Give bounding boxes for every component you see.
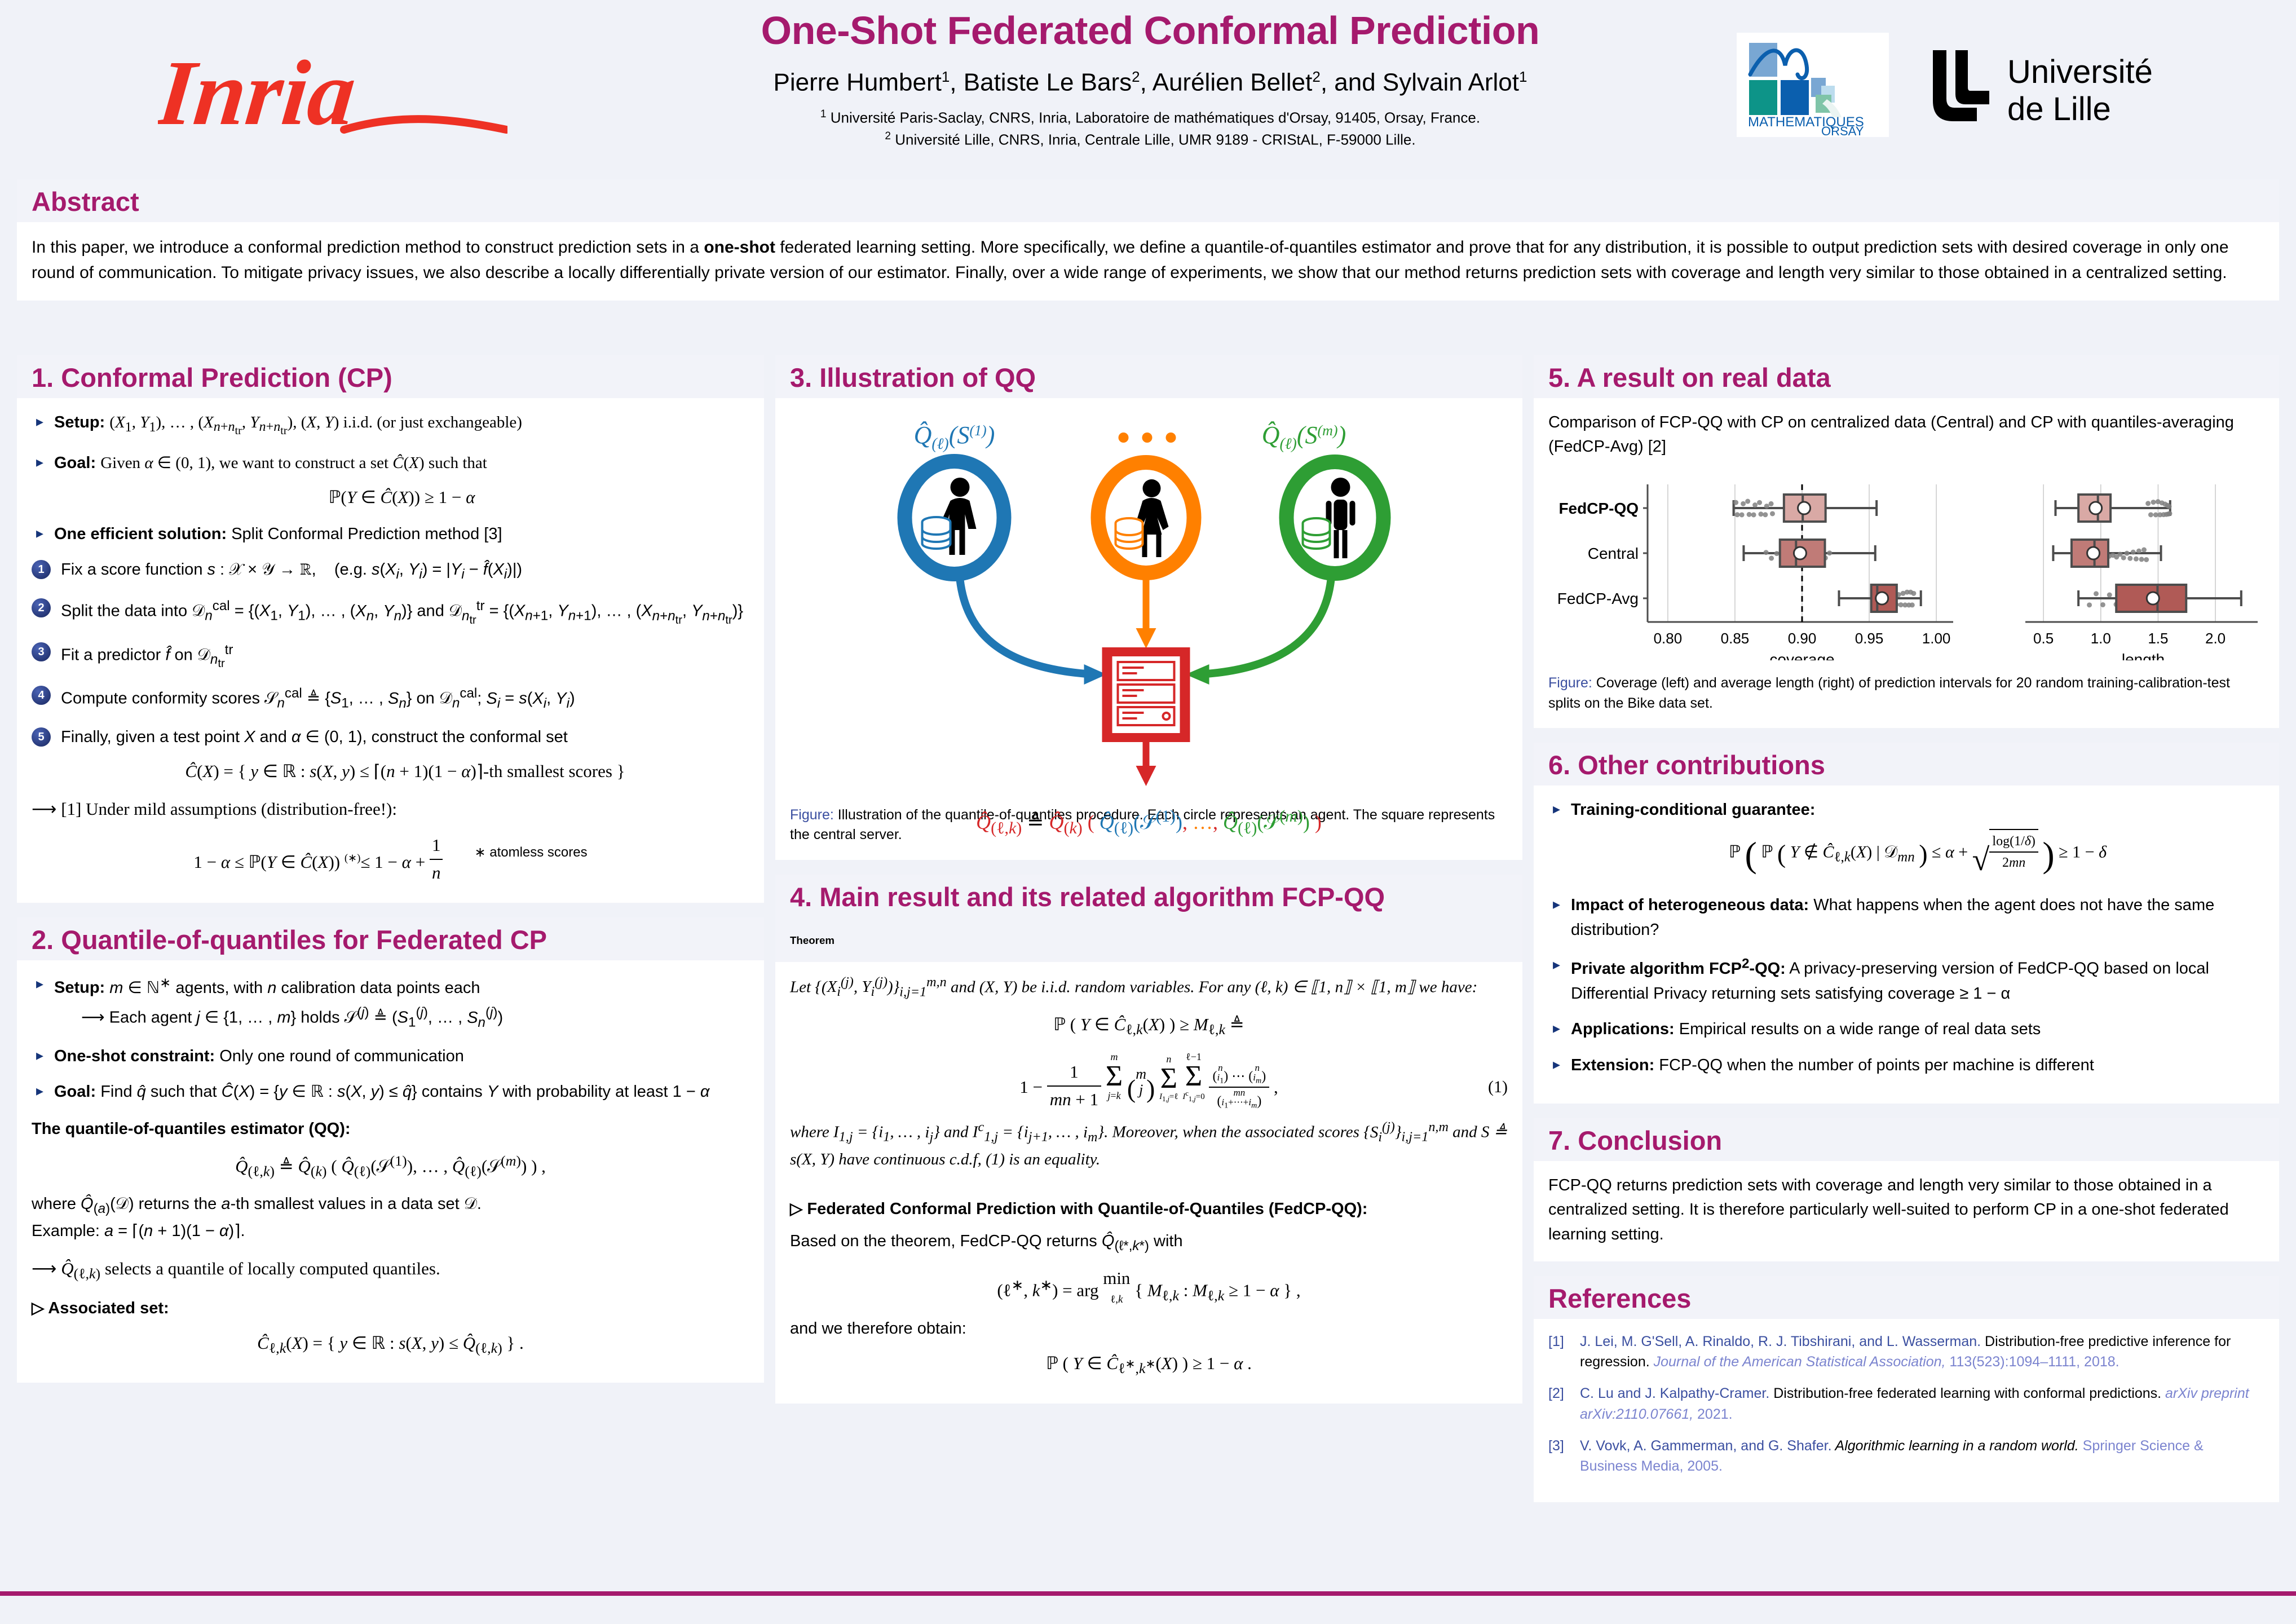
section-6-bullets: Training-conditional guarantee: ℙ ( ℙ ( … [1548,798,2264,1078]
setup-label: Setup: [54,979,105,997]
section-6-header: 6. Other contributions [1534,743,2279,785]
setup-label: Setup: [54,413,105,431]
mathematiques-orsay-logo: MATHEMATIQUES ORSAY [1737,33,1889,137]
list-item: Fix a score function s : 𝒳 × 𝒴 → ℝ, (e.g… [32,558,749,585]
setup-text: m ∈ ℕ∗ agents, with n calibration data p… [109,979,480,997]
theorem-header: Theorem [775,917,1522,961]
assoc-equation: Ĉℓ,k(X) = { y ∈ ℝ : s(X, y) ≤ Q̂(ℓ,k) } … [32,1330,749,1360]
reference-item: [2] C. Lu and J. Kalpathy-Cramer. Distri… [1548,1383,2264,1424]
references-heading: References [1548,1284,2264,1313]
final-equation: ℙ ( Y ∈ Ĉℓ∗,k∗(X) ) ≥ 1 − α . [790,1351,1508,1380]
list-item: Split the data into 𝒟ncal = {(X1, Y1), …… [32,596,749,628]
figure-caption-5: Figure: Coverage (left) and average leng… [1548,673,2264,713]
theorem-body: Let {(Xi(j), Yi(j))}i,j=1m,n and (X, Y) … [775,962,1522,1185]
section-2-heading: 2. Quantile-of-quantiles for Federated C… [32,925,749,955]
svg-text:Q̂(ℓ)(S(1)): Q̂(ℓ)(S(1)) [914,421,995,453]
abstract-bold-1: one-shot [704,238,775,257]
central-server-icon [1102,647,1190,742]
svg-text:FedCP-Avg: FedCP-Avg [1557,590,1639,607]
section-6-card: 6. Other contributions Training-conditio… [1534,743,2279,1104]
mild-assumption-line: ⟶ [1] Under mild assumptions (distributi… [32,796,749,823]
references-header: References [1534,1276,2279,1319]
section-5-header: 5. A result on real data [1534,355,2279,398]
reference-detail: 113(523):1094–1111, 2018. [1945,1354,2119,1370]
section-2-bullets: Setup: m ∈ ℕ∗ agents, with n calibration… [32,973,749,1105]
section-6-heading: 6. Other contributions [1548,751,2264,780]
list-item: One efficient solution: Split Conformal … [32,522,749,547]
setup-text: (X1, Y1), … , (Xn+ntr, Yn+ntr), (X, Y) i… [109,413,522,431]
estimator-heading: The quantile-of-quantiles estimator (QQ)… [32,1117,749,1142]
list-item: Private algorithm FCP2-QQ: A privacy-pre… [1548,954,2264,1006]
contribution-text-4: FCP-QQ when the number of points per mac… [1654,1056,2094,1074]
reference-authors: C. Lu and J. Kalpathy-Cramer. [1580,1385,1769,1401]
svg-text:length: length [2122,651,2165,660]
references-card: References [1] J. Lei, M. G'Sell, A. Rin… [1534,1276,2279,1502]
setup-sub: ⟶ Each agent j ∈ {1, … , m} holds 𝒮(j) ≜… [54,1003,749,1033]
equation-number: (1) [1488,1074,1508,1100]
list-item: One-shot constraint: Only one round of c… [32,1044,749,1069]
reference-authors: J. Lei, M. G'Sell, A. Rinaldo, R. J. Tib… [1580,1334,1981,1349]
svg-text:ORSAY: ORSAY [1821,124,1864,137]
affiliation-1: 1 Université Paris-Saclay, CNRS, Inria, … [665,107,1635,129]
reference-item: [3] V. Vovk, A. Gammerman, and G. Shafer… [1548,1436,2264,1477]
section-1-body: Setup: (X1, Y1), … , (Xn+ntr, Yn+ntr), (… [17,398,764,903]
reference-number: [1] [1548,1331,1580,1373]
section-7-card: 7. Conclusion FCP-QQ returns prediction … [1534,1118,2279,1261]
solution-label: One efficient solution: [54,525,227,543]
abstract-card: Abstract In this paper, we introduce a c… [17,179,2279,301]
section-1-steps: Fix a score function s : 𝒳 × 𝒴 → ℝ, (e.g… [32,558,749,785]
section-1-heading: 1. Conformal Prediction (CP) [32,363,749,392]
svg-text:0.80: 0.80 [1654,630,1683,647]
list-item: Goal: Given α ∈ (0, 1), we want to const… [32,451,749,511]
reference-text: J. Lei, M. G'Sell, A. Rinaldo, R. J. Tib… [1580,1331,2264,1373]
svg-text:Central: Central [1588,545,1639,562]
column-right: 5. A result on real data Comparison of F… [1534,355,2279,1517]
svg-text:1.0: 1.0 [2091,630,2111,647]
section-4-heading: 4. Main result and its related algorithm… [790,882,1508,912]
abstract-body: In this paper, we introduce a conformal … [17,222,2279,301]
contribution-label-1: Impact of heterogeneous data: [1571,896,1809,914]
section-1-card: 1. Conformal Prediction (CP) Setup: (X1,… [17,355,764,903]
author-list: Pierre Humbert1, Batiste Le Bars2, Aurél… [665,69,1635,96]
agent-node-3 [1287,462,1384,573]
based-text: Based on the theorem, FedCP-QQ returns Q… [790,1229,1508,1256]
list-item: Training-conditional guarantee: ℙ ( ℙ ( … [1548,798,2264,882]
poster-root: Inria One-Shot Federated Conformal Predi… [0,0,2296,1624]
theorem-line-1: Let {(Xi(j), Yi(j))}i,j=1m,n and (X, Y) … [790,972,1508,1003]
list-item: Compute conformity scores 𝒮ncal ≜ {S1, …… [32,683,749,714]
mild-equation: 1 − α ≤ ℙ(Y ∈ Ĉ(X)) (∗)≤ 1 − α + 1 n [193,832,443,886]
section-3-heading: 3. Illustration of QQ [790,363,1508,392]
svg-text:0.85: 0.85 [1721,630,1750,647]
theorem-equation-top: ℙ ( Y ∈ Ĉℓ,k(X) ) ≥ Mℓ,k ≜ [790,1012,1508,1041]
obtain-text: and we therefore obtain: [790,1317,1508,1341]
goal-label: Goal: [54,454,96,472]
reference-authors: V. Vovk, A. Gammerman, and G. Shafer. [1580,1438,1832,1454]
section-5-heading: 5. A result on real data [1548,363,2264,392]
section-2-card: 2. Quantile-of-quantiles for Federated C… [17,917,764,1383]
references-body: [1] J. Lei, M. G'Sell, A. Rinaldo, R. J.… [1534,1319,2279,1503]
section-5-body: Comparison of FCP-QQ with CP on centrali… [1534,398,2279,729]
figure-caption-text: Coverage (left) and average length (righ… [1548,675,2230,711]
oneshot-text: Only one round of communication [219,1047,464,1065]
solution-text: Split Conformal Prediction method [3] [231,525,502,543]
svg-text:Université: Université [2007,54,2153,90]
svg-text:0.95: 0.95 [1855,630,1884,647]
guarantee-equation: ℙ ( ℙ ( Y ∉ Ĉℓ,k(X) | 𝒟mn ) ≤ α + √ log(… [1571,828,2264,882]
section-3-header: 3. Illustration of QQ [775,355,1522,398]
svg-text:2.0: 2.0 [2205,630,2226,647]
agent-node-1 [905,461,1004,574]
abstract-header: Abstract [17,179,2279,222]
contribution-label-4: Extension: [1571,1056,1654,1074]
conclusion-text: FCP-QQ returns prediction sets with cove… [1548,1173,2264,1247]
section-2-header: 2. Quantile-of-quantiles for Federated C… [17,917,764,960]
qq-diagram: Q̂(ℓ)(S(1)) Q̂(ℓ)(S(m)) [790,411,1508,800]
reference-journal: Journal of the American Statistical Asso… [1654,1354,1946,1370]
list-item: Setup: m ∈ ℕ∗ agents, with n calibration… [32,973,749,1033]
reference-title: Algorithmic learning in a random world. [1832,1438,2083,1454]
section-6-body: Training-conditional guarantee: ℙ ( ℙ ( … [1534,785,2279,1104]
reference-number: [2] [1548,1383,1580,1424]
contribution-label-2: Private algorithm FCP2-QQ: [1571,960,1786,978]
example-text: Example: a = ⌈(n + 1)(1 − α)⌉. [32,1219,749,1244]
fedcp-label: ▷ Federated Conformal Prediction with Qu… [790,1197,1508,1222]
goal-equation: ℙ(Y ∈ Ĉ(X)) ≥ 1 − α [54,484,749,511]
svg-text:1.00: 1.00 [1922,630,1951,647]
goal-text: Find q̂ such that Ĉ(X) = {y ∈ ℝ : s(X, y… [100,1083,709,1101]
affiliation-2: 2 Université Lille, CNRS, Inria, Central… [665,129,1635,151]
svg-text:de Lille: de Lille [2007,91,2111,127]
svg-text:Inria: Inria [158,45,360,144]
svg-text:FedCP-QQ: FedCP-QQ [1558,500,1639,517]
svg-text:Q̂(ℓ)(S(m)): Q̂(ℓ)(S(m)) [1262,421,1346,453]
fedcp-body: ▷ Federated Conformal Prediction with Qu… [775,1185,1522,1404]
theorem-heading: Theorem [790,934,1508,947]
section-7-body: FCP-QQ returns prediction sets with cove… [1534,1161,2279,1262]
section-2-body: Setup: m ∈ ℕ∗ agents, with n calibration… [17,960,764,1383]
theorem-equation-main: 1 − 1 mn + 1 m Σ j=k (mj) n Σ I1,j=ℓ [790,1049,1508,1113]
column-middle: 3. Illustration of QQ Q̂(ℓ)(S(1)) Q̂(ℓ)(… [775,355,1522,1418]
svg-text:coverage: coverage [1769,651,1834,660]
title-block: One-Shot Federated Conformal Prediction … [665,10,1635,151]
boxplot-chart: 0.800.850.900.951.00coverageFedCP-QQCent… [1548,474,2264,668]
section-5-card: 5. A result on real data Comparison of F… [1534,355,2279,728]
list-item: Impact of heterogeneous data: What happe… [1548,893,2264,942]
section-1-header: 1. Conformal Prediction (CP) [17,355,764,398]
contribution-label-0: Training-conditional guarantee: [1571,801,1815,819]
section-7-header: 7. Conclusion [1534,1118,2279,1161]
abstract-text-1: In this paper, we introduce a conformal … [32,238,704,257]
reference-item: [1] J. Lei, M. G'Sell, A. Rinaldo, R. J.… [1548,1331,2264,1373]
section-3-card: 3. Illustration of QQ Q̂(ℓ)(S(1)) Q̂(ℓ)(… [775,355,1522,860]
section-7-heading: 7. Conclusion [1548,1126,2264,1155]
poster-header: Inria One-Shot Federated Conformal Predi… [0,0,2296,169]
where-text: where Q̂(a)(𝒟) returns the a-th smallest… [32,1192,749,1219]
footer-accent-bar [0,1591,2296,1596]
atomless-note: ∗ atomless scores [474,830,587,863]
universite-de-lille-logo: Université de Lille [1923,42,2216,133]
reference-journal: Springer [2083,1438,2136,1454]
list-item: Fit a predictor f̂ on 𝒟ntrtr [32,640,749,672]
list-item: Setup: (X1, Y1), … , (Xn+ntr, Yn+ntr), (… [32,411,749,440]
svg-text:0.90: 0.90 [1788,630,1817,647]
reference-text: C. Lu and J. Kalpathy-Cramer. Distributi… [1580,1383,2264,1424]
step5-equation: Ĉ(X) = { y ∈ ℝ : s(X, y) ≤ ⌈(n + 1)(1 − … [61,758,749,785]
section-5-intro: Comparison of FCP-QQ with CP on centrali… [1548,411,2264,460]
list-item: Applications: Empirical results on a wid… [1548,1017,2264,1042]
figure-caption-label: Figure: [1548,675,1592,691]
oneshot-label: One-shot constraint: [54,1047,215,1065]
abstract-heading: Abstract [32,187,2264,217]
section-4-header: 4. Main result and its related algorithm… [775,875,1522,917]
reference-number: [3] [1548,1436,1580,1477]
assoc-label: ▷ Associated set: [32,1296,749,1321]
list-item: Goal: Find q̂ such that Ĉ(X) = {y ∈ ℝ : … [32,1080,749,1105]
section-4-card: 4. Main result and its related algorithm… [775,875,1522,1404]
qq-result-equation: Q̂(ℓ,k) ≜ Q̂(k) ( Q̂(ℓ)(𝒮(1)), …, Q̂(ℓ)(… [790,804,1508,841]
list-item: Extension: FCP-QQ when the number of poi… [1548,1053,2264,1078]
goal-text: Given α ∈ (0, 1), we want to construct a… [100,454,487,472]
svg-text:0.5: 0.5 [2033,630,2054,647]
column-left: 1. Conformal Prediction (CP) Setup: (X1,… [17,355,764,1397]
reference-detail: 2021. [1693,1406,1733,1422]
argmin-equation: (ℓ∗, k∗) = arg minℓ,k { Mℓ,k : Mℓ,k ≥ 1 … [790,1265,1508,1308]
selects-text: ⟶ Q̂(ℓ,k) selects a quantile of locally … [32,1256,749,1285]
inria-logo: Inria [158,45,507,147]
agent-node-2 [1098,462,1194,573]
theorem-line-2: where I1,j = {i1, … , ij} and Ic1,j = {i… [790,1117,1508,1172]
contribution-text-3: Empirical results on a wide range of rea… [1675,1020,2041,1038]
page-title: One-Shot Federated Conformal Prediction [665,10,1635,52]
list-item: Finally, given a test point X and α ∈ (0… [32,725,749,785]
reference-title: Distribution-free federated learning wit… [1769,1385,2165,1401]
estimator-equation: Q̂(ℓ,k) ≜ Q̂(k) ( Q̂(ℓ)(𝒮(1)), … , Q̂(ℓ)… [32,1150,749,1182]
svg-text:1.5: 1.5 [2148,630,2168,647]
goal-label: Goal: [54,1083,96,1101]
section-1-bullets: Setup: (X1, Y1), … , (Xn+ntr, Yn+ntr), (… [32,411,749,546]
reference-text: V. Vovk, A. Gammerman, and G. Shafer. Al… [1580,1436,2264,1477]
contribution-label-3: Applications: [1571,1020,1675,1038]
section-3-body: Q̂(ℓ)(S(1)) Q̂(ℓ)(S(m)) [775,398,1522,860]
